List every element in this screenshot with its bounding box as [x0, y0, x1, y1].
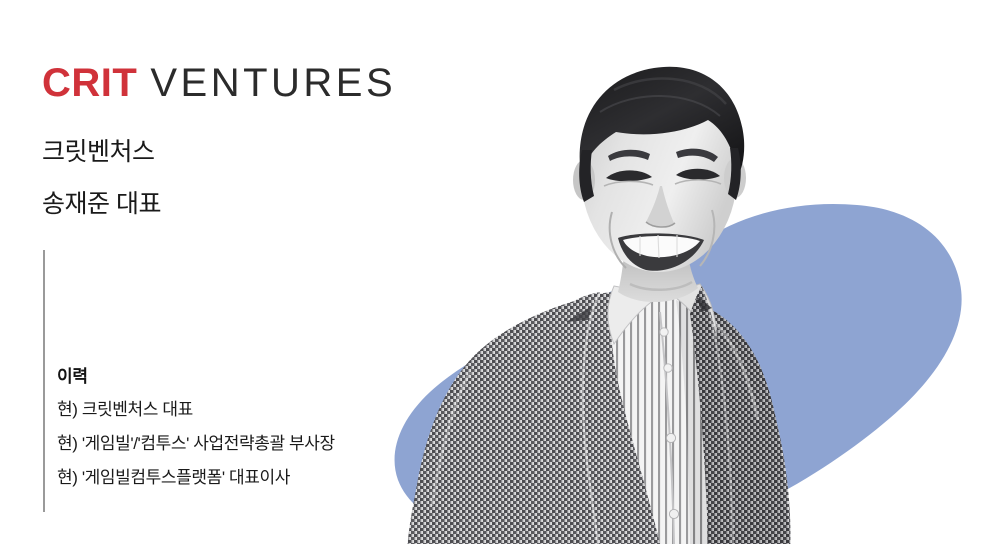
career-item: 현) 크릿벤처스 대표	[57, 401, 457, 418]
logo-crit-text: CRIT	[42, 61, 137, 105]
profile-card: CRITVENTURES 크릿벤처스 송재준 대표 이력 현) 크릿벤처스 대표…	[0, 0, 1001, 544]
career-item: 현) '게임빌컴투스플랫폼' 대표이사	[57, 469, 457, 486]
company-name: 크릿벤처스	[42, 140, 161, 165]
career-heading: 이력	[57, 368, 457, 385]
profile-name-block: 크릿벤처스 송재준 대표	[42, 140, 161, 217]
brand-logo: CRITVENTURES	[42, 63, 396, 103]
career-section: 이력 현) 크릿벤처스 대표 현) '게임빌'/'컴투스' 사업전략총괄 부사장…	[57, 368, 457, 486]
person-name-title: 송재준 대표	[42, 192, 161, 217]
info-column: CRITVENTURES 크릿벤처스 송재준 대표 이력 현) 크릿벤처스 대표…	[0, 0, 470, 544]
logo-ventures-text: VENTURES	[150, 61, 396, 105]
career-item: 현) '게임빌'/'컴투스' 사업전략총괄 부사장	[57, 435, 457, 452]
career-list: 현) 크릿벤처스 대표 현) '게임빌'/'컴투스' 사업전략총괄 부사장 현)…	[57, 401, 457, 486]
vertical-divider	[43, 250, 45, 512]
